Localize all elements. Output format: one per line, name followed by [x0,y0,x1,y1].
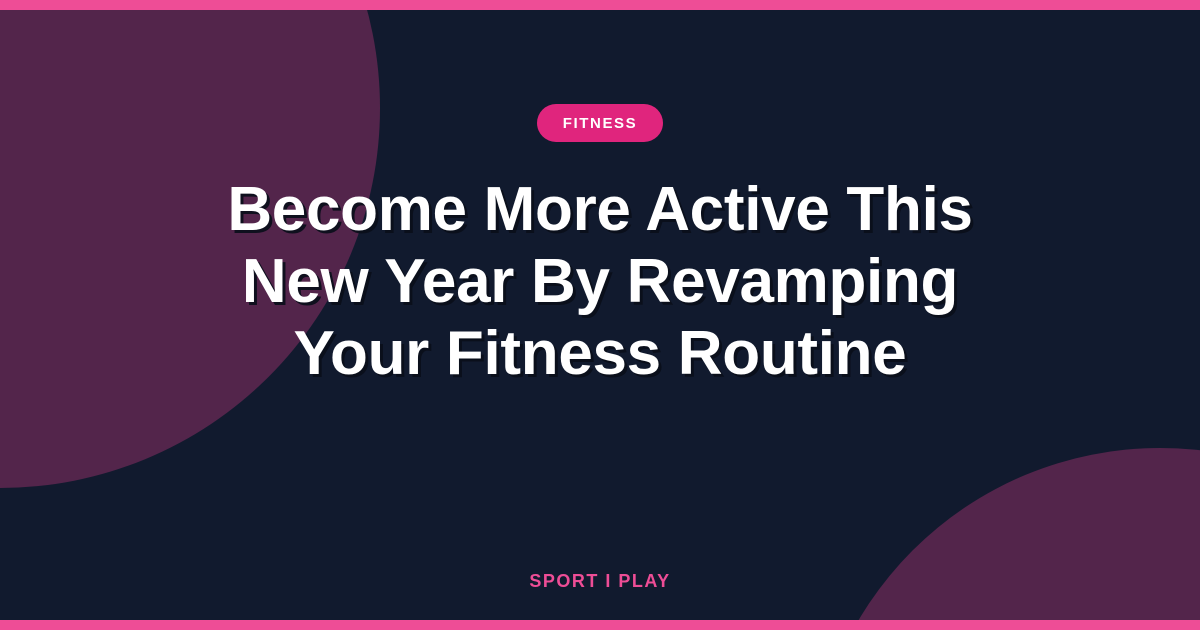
card-content: FITNESS Become More Active This New Year… [0,0,1200,630]
social-share-card: FITNESS Become More Active This New Year… [0,0,1200,630]
headline-line-2: New Year By Revamping [65,246,1135,318]
headline-line-3: Your Fitness Routine [65,318,1135,390]
page-title: Become More Active This New Year By Reva… [65,174,1135,390]
category-badge-label: FITNESS [563,116,638,131]
headline-line-1: Become More Active This [65,174,1135,246]
bottom-pink-accent-bar [0,620,1200,630]
top-pink-accent-bar [0,0,1200,10]
category-badge[interactable]: FITNESS [537,104,664,142]
